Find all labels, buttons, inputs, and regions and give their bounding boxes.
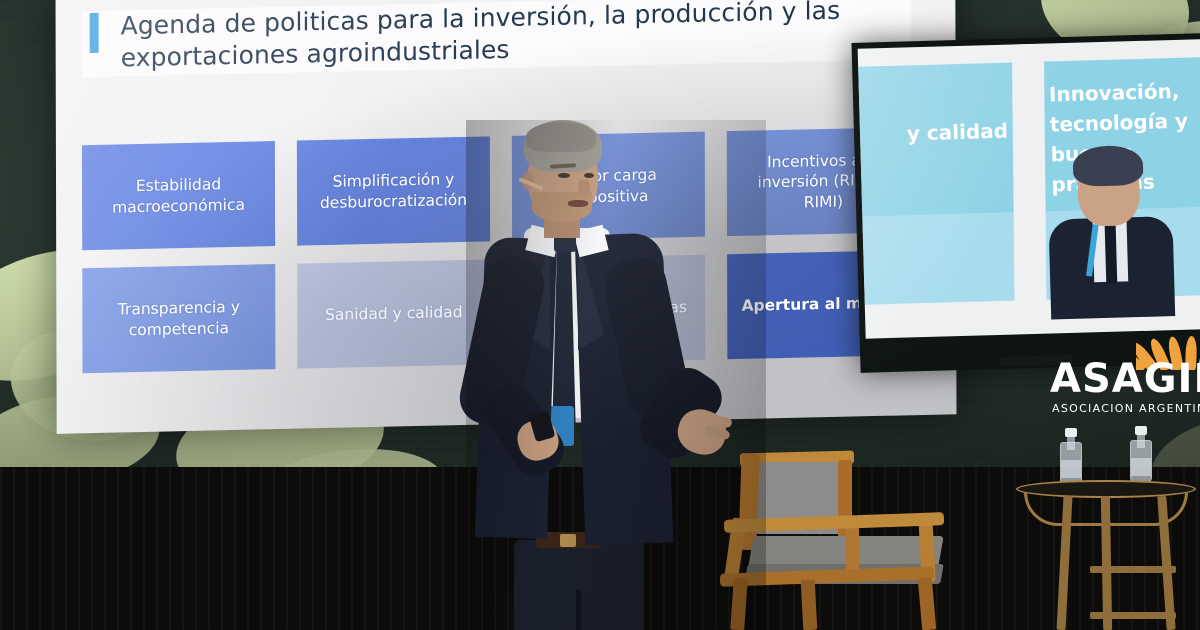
- agenda-box-label: Sanidad y calidad: [325, 302, 463, 325]
- slide-title-block: Agenda de politicas para la inversión, l…: [82, 0, 912, 77]
- agenda-box-label: Transparencia y competencia: [92, 296, 265, 341]
- bottle-neck: [1067, 436, 1075, 450]
- speaker-mouth: [568, 200, 588, 207]
- speaker-eye: [584, 173, 594, 178]
- agenda-box-label: Estabilidad macroeconómica: [92, 173, 265, 218]
- agenda-box: Sanidad y calidad: [297, 259, 490, 368]
- slide-title: Agenda de politicas para la inversión, l…: [121, 0, 912, 73]
- speaker-eye: [558, 173, 570, 178]
- asagir-subtitle: ASOCIACION ARGENTINA: [1052, 402, 1200, 415]
- asagir-wordmark: ASAGIR: [1050, 356, 1200, 402]
- monitor-glare: [858, 39, 1200, 339]
- agenda-box-label: Simplificación y desburocratización: [307, 169, 480, 214]
- speaker-leg-split: [576, 590, 581, 630]
- agenda-box: Simplificación y desburocratización: [297, 136, 490, 245]
- table-rung: [1090, 566, 1176, 573]
- conference-photo-scene: Agenda de politicas para la inversión, l…: [0, 0, 1200, 630]
- chair-leg: [801, 580, 818, 630]
- chair-leg: [918, 577, 936, 630]
- speaker-person: [466, 120, 766, 630]
- speaker-belt-buckle: [560, 534, 576, 547]
- water-bottle: [1130, 426, 1152, 482]
- bottle-neck: [1137, 434, 1145, 448]
- asagir-logo: ASAGIR ASOCIACION ARGENTINA: [1050, 330, 1200, 422]
- agenda-box: Estabilidad macroeconómica: [82, 141, 275, 250]
- monitor-screen: y calidad Innovación, tecnología y buena…: [858, 39, 1200, 339]
- bottle-cap: [1065, 428, 1077, 437]
- speaker-hair-top: [526, 122, 596, 152]
- confidence-monitor: y calidad Innovación, tecnología y buena…: [851, 33, 1200, 373]
- water-bottle: [1060, 428, 1082, 484]
- bottle-label: [1061, 460, 1081, 478]
- speaker-jaw: [532, 192, 592, 222]
- agenda-box: Transparencia y competencia: [82, 264, 275, 373]
- side-table: [1016, 480, 1196, 630]
- table-rung: [1090, 612, 1176, 619]
- bottle-cap: [1135, 426, 1147, 435]
- bottle-label: [1131, 458, 1151, 476]
- speaker-nose: [578, 180, 590, 194]
- title-accent-bar: [90, 13, 99, 53]
